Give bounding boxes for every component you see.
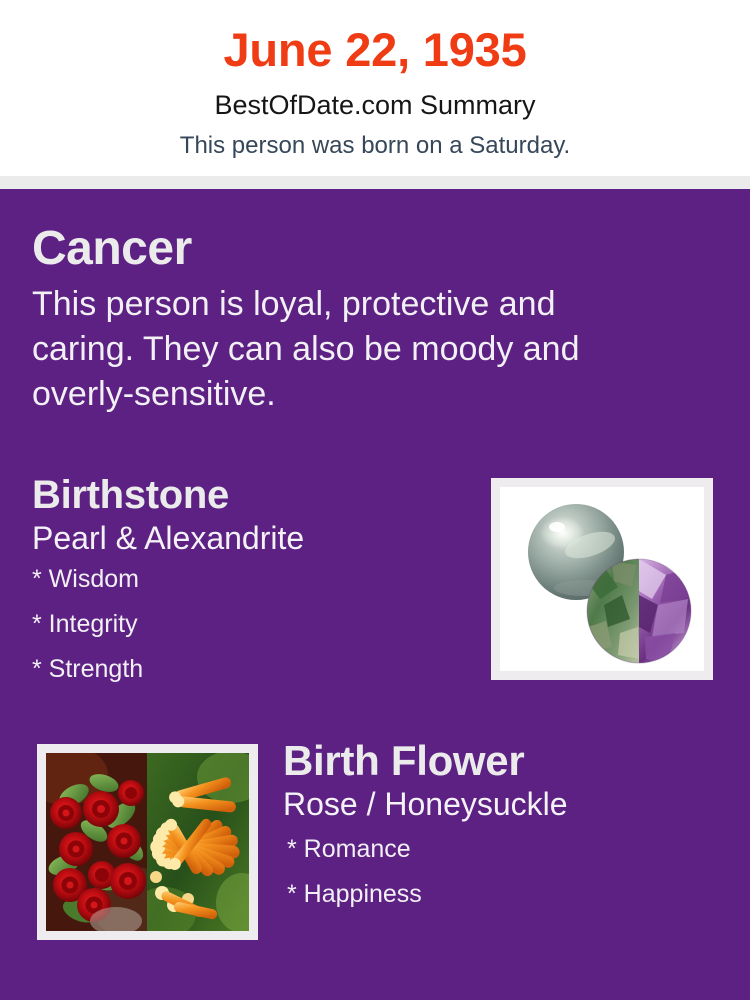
page-title-date: June 22, 1935: [0, 0, 750, 73]
list-item: * Romance: [287, 837, 723, 882]
birth-flower-traits-list: * Romance * Happiness: [283, 823, 723, 927]
birthstone-traits-list: * Wisdom * Integrity * Strength: [32, 557, 472, 702]
roses-honeysuckle-illustration: [46, 753, 249, 931]
header: June 22, 1935 BestOfDate.com Summary Thi…: [0, 0, 750, 176]
birthstone-title: Birthstone: [32, 474, 472, 517]
list-item: * Wisdom: [32, 567, 472, 612]
birth-flower-photo-frame: [37, 744, 258, 940]
summary-card: June 22, 1935 BestOfDate.com Summary Thi…: [0, 0, 750, 1000]
zodiac-sign-title: Cancer: [32, 224, 672, 274]
header-divider: [0, 176, 750, 189]
list-item: * Happiness: [287, 882, 723, 927]
birth-flower-title: Birth Flower: [283, 739, 723, 783]
birth-flower-image: [46, 753, 249, 931]
site-summary-label: BestOfDate.com Summary: [0, 73, 750, 119]
birthstone-photo-frame: [491, 478, 713, 680]
zodiac-description: This person is loyal, protective and car…: [32, 274, 642, 417]
list-item: * Integrity: [32, 612, 472, 657]
pearl-alexandrite-illustration: [500, 487, 704, 671]
birth-day-note: This person was born on a Saturday.: [0, 119, 750, 158]
birthstone-names: Pearl & Alexandrite: [32, 517, 472, 557]
birthstone-image: [500, 487, 704, 671]
list-item: * Strength: [32, 657, 472, 702]
birth-flower-section: Birth Flower Rose / Honeysuckle * Romanc…: [283, 739, 723, 927]
zodiac-section: Cancer This person is loyal, protective …: [32, 224, 672, 417]
birthstone-section: Birthstone Pearl & Alexandrite * Wisdom …: [32, 474, 472, 702]
birth-flower-names: Rose / Honeysuckle: [283, 783, 723, 823]
